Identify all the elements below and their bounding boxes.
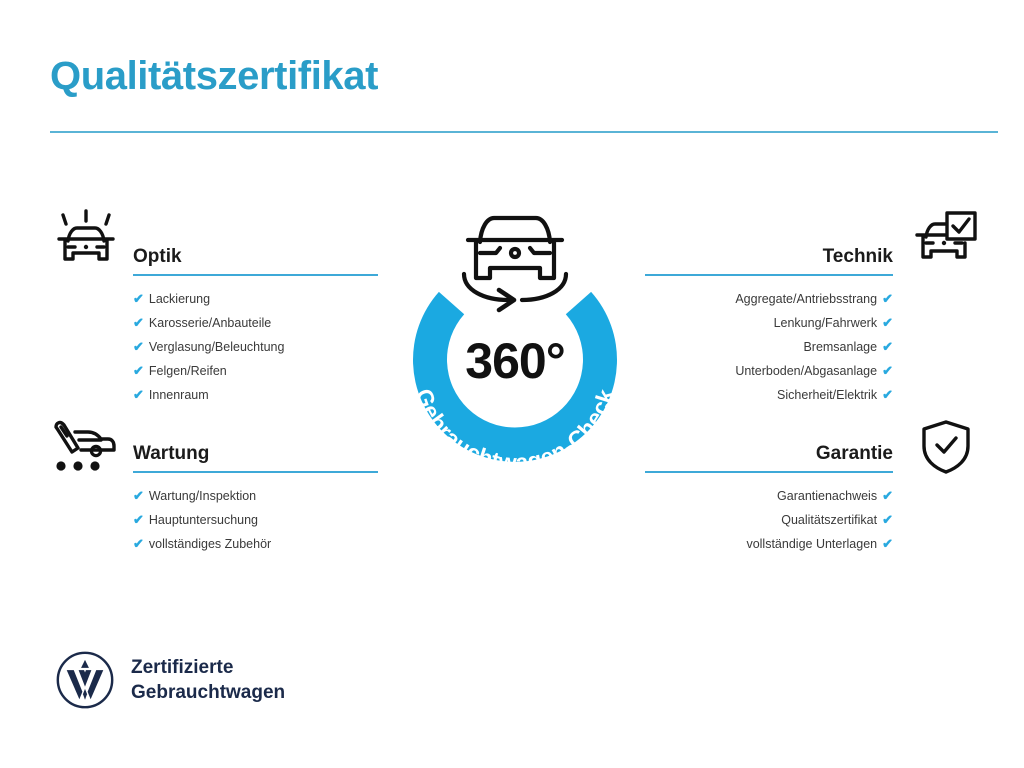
list-item: ✔Felgen/Reifen [133, 359, 378, 383]
badge-360-gebrauchtwagen-check: Gebrauchtwagen-Check 360° [375, 196, 655, 486]
check-icon: ✔ [133, 363, 144, 378]
check-icon: ✔ [133, 387, 144, 402]
section-title-technik: Technik [823, 246, 893, 268]
list-item-label: vollständige Unterlagen [746, 537, 877, 551]
page-title: Qualitätszertifikat [50, 54, 378, 99]
section-title-optik: Optik [133, 246, 182, 268]
list-item-label: Verglasung/Beleuchtung [149, 340, 285, 354]
checklist-wartung: ✔Wartung/Inspektion ✔Hauptuntersuchung ✔… [133, 484, 378, 556]
list-item-label: Unterboden/Abgasanlage [735, 364, 877, 378]
section-title-garantie: Garantie [816, 443, 893, 465]
header-divider [50, 131, 998, 133]
list-item: ✔Karosserie/Anbauteile [133, 311, 378, 335]
list-item: ✔Innenraum [133, 383, 378, 407]
list-item-label: vollständiges Zubehör [149, 537, 271, 551]
list-item: Garantienachweis✔ [645, 484, 893, 508]
list-item-label: Karosserie/Anbauteile [149, 316, 271, 330]
check-icon: ✔ [882, 291, 893, 306]
list-item-label: Wartung/Inspektion [149, 489, 256, 503]
check-icon: ✔ [882, 488, 893, 503]
vw-certified-label: Zertifizierte Gebrauchtwagen [131, 655, 285, 705]
list-item-label: Lenkung/Fahrwerk [774, 316, 878, 330]
list-item: Unterboden/Abgasanlage✔ [645, 359, 893, 383]
section-divider [133, 471, 378, 473]
section-divider [645, 274, 893, 276]
list-item-label: Innenraum [149, 388, 209, 402]
wrench-car-icon [48, 418, 118, 479]
list-item-label: Hauptuntersuchung [149, 513, 258, 527]
list-item: Qualitätszertifikat✔ [645, 508, 893, 532]
vw-label-line2: Gebrauchtwagen [131, 680, 285, 705]
check-icon: ✔ [133, 315, 144, 330]
list-item-label: Sicherheit/Elektrik [777, 388, 877, 402]
section-divider [133, 274, 378, 276]
check-icon: ✔ [882, 536, 893, 551]
check-icon: ✔ [882, 512, 893, 527]
check-icon: ✔ [133, 536, 144, 551]
vw-label-line1: Zertifizierte [131, 655, 285, 680]
list-item: vollständige Unterlagen✔ [645, 532, 893, 556]
section-header: Garantie [645, 435, 893, 473]
list-item-label: Aggregate/Antriebsstrang [735, 292, 877, 306]
section-garantie: Garantie Garantienachweis✔ Qualitätszert… [645, 435, 893, 556]
shield-check-icon [918, 418, 974, 481]
list-item-label: Bremsanlage [803, 340, 877, 354]
section-title-wartung: Wartung [133, 443, 209, 465]
section-optik: Optik ✔Lackierung ✔Karosserie/Anbauteile… [133, 238, 378, 407]
list-item: ✔Lackierung [133, 287, 378, 311]
list-item: ✔vollständiges Zubehör [133, 532, 378, 556]
section-header: Technik [645, 238, 893, 276]
section-wartung: Wartung ✔Wartung/Inspektion ✔Hauptunters… [133, 435, 378, 556]
check-icon: ✔ [882, 339, 893, 354]
section-header: Wartung [133, 435, 378, 473]
list-item-label: Garantienachweis [777, 489, 877, 503]
check-icon: ✔ [133, 488, 144, 503]
check-icon: ✔ [133, 339, 144, 354]
check-icon: ✔ [882, 363, 893, 378]
list-item-label: Qualitätszertifikat [781, 513, 877, 527]
check-icon: ✔ [882, 315, 893, 330]
list-item-label: Lackierung [149, 292, 210, 306]
section-divider [645, 471, 893, 473]
car-shine-icon [52, 206, 120, 273]
list-item: Lenkung/Fahrwerk✔ [645, 311, 893, 335]
list-item-label: Felgen/Reifen [149, 364, 227, 378]
certificate-page: Qualitätszertifikat Optik ✔Lackierung ✔K [0, 0, 1024, 768]
check-icon: ✔ [133, 512, 144, 527]
list-item: ✔Wartung/Inspektion [133, 484, 378, 508]
list-item: ✔Hauptuntersuchung [133, 508, 378, 532]
checklist-garantie: Garantienachweis✔ Qualitätszertifikat✔ v… [645, 484, 893, 556]
section-technik: Technik Aggregate/Antriebsstrang✔ Lenkun… [645, 238, 893, 407]
vw-logo [55, 650, 115, 710]
list-item: Aggregate/Antriebsstrang✔ [645, 287, 893, 311]
list-item: ✔Verglasung/Beleuchtung [133, 335, 378, 359]
check-icon: ✔ [133, 291, 144, 306]
checklist-optik: ✔Lackierung ✔Karosserie/Anbauteile ✔Verg… [133, 287, 378, 407]
list-item: Bremsanlage✔ [645, 335, 893, 359]
check-icon: ✔ [882, 387, 893, 402]
vw-certified-footer: Zertifizierte Gebrauchtwagen [55, 650, 285, 710]
badge-number: 360° [375, 332, 655, 390]
list-item: Sicherheit/Elektrik✔ [645, 383, 893, 407]
car-checkbox-icon [912, 210, 980, 275]
checklist-technik: Aggregate/Antriebsstrang✔ Lenkung/Fahrwe… [645, 287, 893, 407]
section-header: Optik [133, 238, 378, 276]
